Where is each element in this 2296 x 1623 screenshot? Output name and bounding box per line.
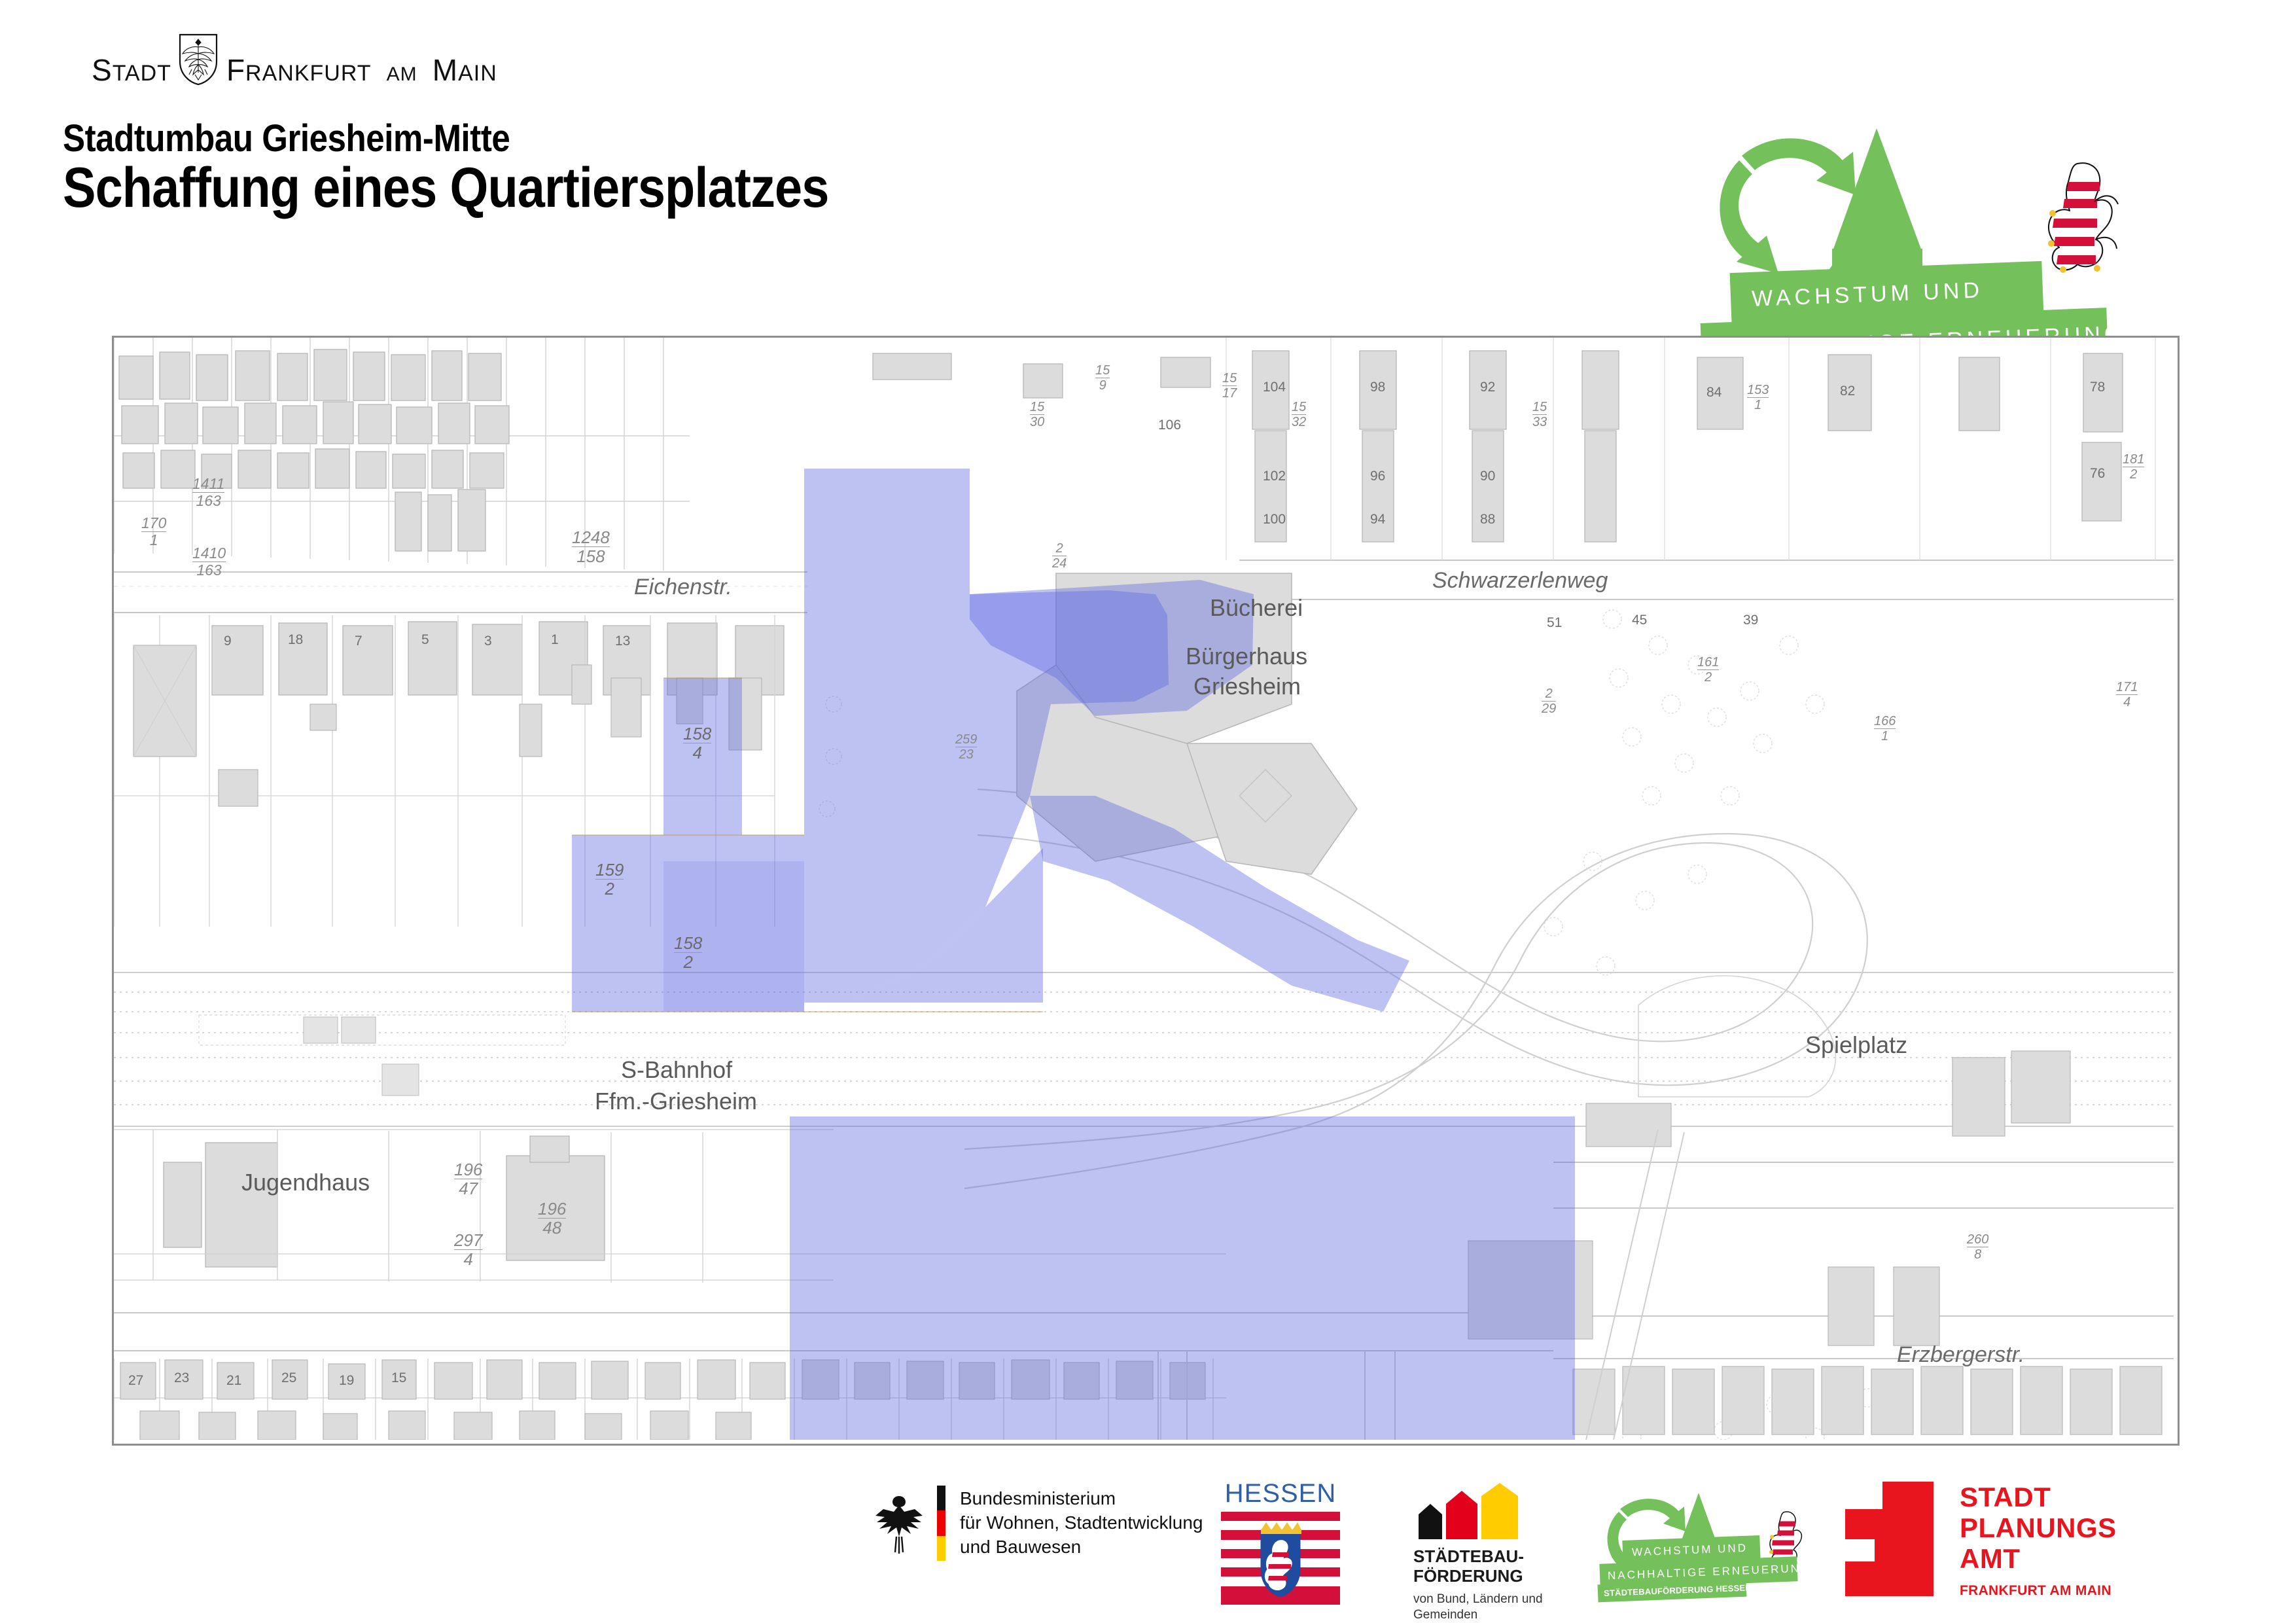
spa-text: STADT PLANUNGS AMT FRANKFURT AM MAIN: [1960, 1482, 2117, 1599]
house-number: 9: [224, 633, 232, 649]
parcel-number: 1584: [683, 725, 711, 761]
bmwsb-line3: und Bauwesen: [960, 1535, 1203, 1560]
bmwsb-line1: Bundesministerium: [960, 1487, 1203, 1511]
parcel-number: 1612: [1697, 656, 1719, 684]
wachstum-logo-footer: WACHSTUM UND NACHHALTIGE ERNEUERUNG STÄD…: [1597, 1491, 1871, 1612]
parcel-number: 1812: [2123, 453, 2144, 481]
spa-line1: STADT: [1960, 1482, 2117, 1512]
parcel-number: 1582: [674, 935, 702, 971]
house-number: 51: [1547, 615, 1562, 631]
parcel-number: 19648: [538, 1200, 566, 1236]
poi-label-buergerhaus: Bürgerhaus: [1186, 643, 1307, 670]
spa-line3: AMT: [1960, 1543, 2117, 1574]
house-number: 15: [391, 1370, 406, 1386]
parcel-number: 1592: [595, 861, 624, 897]
parcel-number: 1248158: [572, 529, 610, 565]
house-number: 78: [2090, 380, 2105, 395]
parcel-number: 25923: [955, 733, 977, 761]
staedtebau-line2: FÖRDERUNG: [1413, 1567, 1577, 1586]
house-number: 23: [174, 1370, 189, 1386]
bmwsb-line2: für Wohnen, Stadtentwicklung: [960, 1511, 1203, 1535]
house-number: 3: [484, 633, 492, 649]
house-number: 90: [1480, 469, 1495, 484]
spa-line2: PLANUNGS: [1960, 1512, 2117, 1543]
parcel-number: 1701: [141, 516, 166, 548]
parcel-number: 1411163: [192, 476, 224, 508]
house-number: 5: [421, 632, 429, 648]
planning-area-highlight: [114, 338, 2174, 1440]
house-number: 100: [1263, 512, 1286, 527]
house-number: 82: [1840, 383, 1855, 399]
frankfurt-eagle-crest-icon: [178, 33, 219, 85]
house-number: 98: [1370, 380, 1385, 395]
stadtplanungsamt-logo: STADT PLANUNGS AMT FRANKFURT AM MAIN: [1845, 1482, 2117, 1599]
poi-label-buecherei: Bücherei: [1210, 594, 1303, 622]
staedtebau-subtext: von Bund, Ländern und Gemeinden: [1413, 1592, 1577, 1623]
house-number: 27: [128, 1373, 143, 1389]
page-footer: Bundesministerium für Wohnen, Stadtentwi…: [0, 1472, 2296, 1623]
poi-label-ffm-griesheim: Ffm.-Griesheim: [595, 1088, 757, 1115]
house-number: 104: [1263, 380, 1286, 395]
house-number: 45: [1632, 613, 1647, 628]
page-header: STADT: [0, 0, 2296, 327]
spa-block-mark-icon: [1845, 1482, 1934, 1596]
house-number: 1: [551, 632, 559, 648]
staedtebau-sub2: Gemeinden: [1413, 1607, 1577, 1623]
page-subtitle: Stadtumbau Griesheim-Mitte: [63, 116, 510, 160]
street-label-erzbergerstr: Erzbergerstr.: [1897, 1342, 2024, 1368]
city-logo: STADT: [92, 34, 497, 85]
cadastral-map[interactable]: Eichenstr. Schwarzerlenweg Am Gemeindega…: [112, 336, 2180, 1446]
hessen-wordmark: HESSEN: [1221, 1480, 1340, 1507]
parcel-number: 19647: [454, 1161, 482, 1197]
parcel-number: 1530: [1030, 401, 1044, 429]
house-number: 84: [1706, 385, 1722, 401]
house-number: 7: [355, 633, 362, 649]
house-number: 88: [1480, 512, 1495, 527]
staedtebaufoerderung-logo: STÄDTEBAU- FÖRDERUNG von Bund, Ländern u…: [1413, 1483, 1577, 1622]
house-number: 76: [2090, 466, 2105, 482]
city-logo-word-stadt: STADT: [92, 55, 171, 85]
parcel-number: 1661: [1874, 715, 1896, 743]
parcel-number: 229: [1542, 687, 1556, 715]
street-label-eichenstr: Eichenstr.: [634, 575, 732, 600]
staedtebau-line1: STÄDTEBAU-: [1413, 1547, 1577, 1567]
poi-label-s-bahnhof: S-Bahnhof: [621, 1056, 732, 1084]
parcel-number: 159: [1095, 364, 1110, 392]
city-logo-word-frankfurt: FRANKFURT AM MAIN: [226, 55, 497, 85]
house-number: 96: [1370, 469, 1385, 484]
parcel-number: 1410163: [192, 546, 226, 578]
staedtebau-sub1: von Bund, Ländern und: [1413, 1592, 1577, 1607]
house-number: 18: [288, 632, 303, 648]
street-label-schwarzerlenweg: Schwarzerlenweg: [1432, 568, 1608, 594]
page-title: Schaffung eines Quartiersplatzes: [63, 156, 828, 221]
poi-label-griesheim: Griesheim: [1193, 673, 1301, 700]
bmwsb-text: Bundesministerium für Wohnen, Stadtentwi…: [960, 1487, 1203, 1560]
house-number: 19: [339, 1373, 354, 1389]
parcel-number: 224: [1052, 542, 1067, 570]
house-number: 25: [281, 1370, 296, 1386]
parcel-number: 1532: [1292, 401, 1306, 429]
poi-label-jugendhaus: Jugendhaus: [241, 1169, 370, 1196]
house-number: 94: [1370, 512, 1385, 527]
parcel-number: 2974: [454, 1232, 482, 1268]
poi-label-spielplatz: Spielplatz: [1805, 1031, 1907, 1059]
map-canvas: Eichenstr. Schwarzerlenweg Am Gemeindega…: [114, 338, 2174, 1440]
house-number: 92: [1480, 380, 1495, 395]
parcel-number: 1714: [2116, 681, 2138, 709]
hessen-flag-lion-icon: [1221, 1512, 1340, 1605]
bundesadler-icon: [870, 1489, 928, 1558]
house-number: 102: [1263, 469, 1286, 484]
parcel-number: 1531: [1747, 383, 1769, 412]
german-flag-bar-icon: [937, 1486, 945, 1561]
spa-subtext: FRANKFURT AM MAIN: [1960, 1583, 2117, 1599]
bmwsb-logo: Bundesministerium für Wohnen, Stadtentwi…: [870, 1486, 1203, 1561]
hessian-lion-icon: [2032, 156, 2123, 287]
house-number: 106: [1158, 418, 1181, 433]
parcel-number: 1517: [1222, 372, 1237, 400]
parcel-number: 1533: [1532, 401, 1547, 429]
house-number: 39: [1743, 613, 1758, 628]
staedtebau-text: STÄDTEBAU- FÖRDERUNG: [1413, 1547, 1577, 1586]
house-number: 21: [226, 1373, 241, 1389]
three-houses-icon: [1413, 1483, 1577, 1539]
house-number: 13: [615, 633, 630, 649]
parcel-number: 2608: [1967, 1233, 1988, 1261]
hessen-logo: HESSEN: [1221, 1480, 1340, 1605]
